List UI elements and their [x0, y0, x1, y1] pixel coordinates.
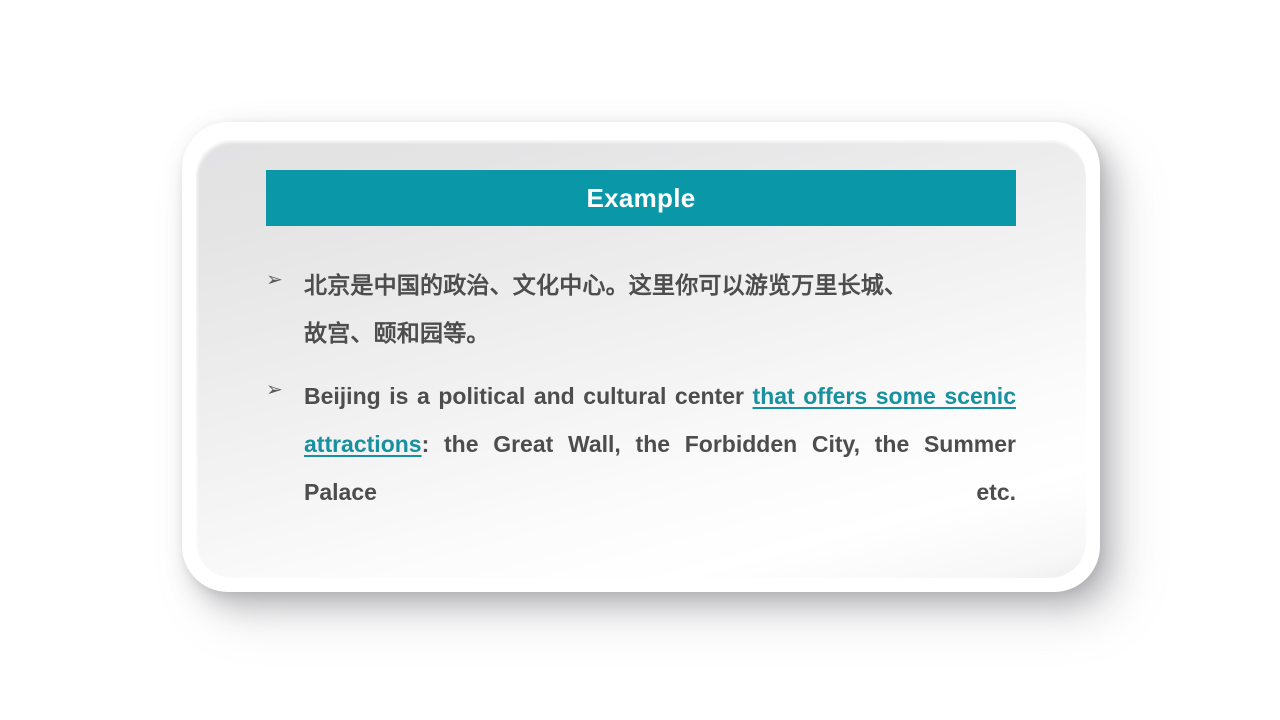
arrow-bullet-icon: ➢ — [266, 375, 290, 403]
english-text-before-link: Beijing is a political and cultural cent… — [304, 383, 753, 409]
bullet-list: ➢ 北京是中国的政治、文化中心。这里你可以游览万里长城、 故宫、颐和园等。 ➢ … — [266, 262, 1016, 564]
list-item-english: ➢ Beijing is a political and cultural ce… — [266, 372, 1016, 564]
list-item-english-text: Beijing is a political and cultural cent… — [304, 372, 1016, 564]
list-item-chinese-text: 北京是中国的政治、文化中心。这里你可以游览万里长城、 故宫、颐和园等。 — [304, 262, 1016, 358]
page-title: Example — [586, 185, 695, 211]
arrow-bullet-icon: ➢ — [266, 265, 290, 293]
list-item-chinese: ➢ 北京是中国的政治、文化中心。这里你可以游览万里长城、 故宫、颐和园等。 — [266, 262, 1016, 358]
example-header-band: Example — [266, 170, 1016, 226]
chinese-line-2: 故宫、颐和园等。 — [304, 310, 1016, 358]
slide-canvas: Example ➢ 北京是中国的政治、文化中心。这里你可以游览万里长城、 故宫、… — [0, 0, 1280, 720]
chinese-line-1: 北京是中国的政治、文化中心。这里你可以游览万里长城、 — [304, 262, 1016, 310]
